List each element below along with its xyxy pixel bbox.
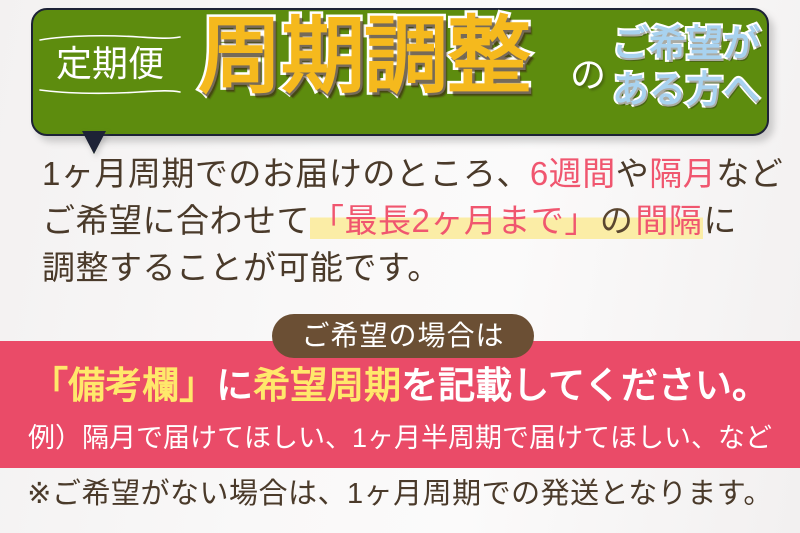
request-case-pill: ご希望の場合は — [272, 314, 534, 358]
description-line-1-part-c: や — [616, 155, 650, 192]
description-highlight-6weeks: 6週間 — [530, 155, 616, 192]
description-line-3: 調整することが可能です。 — [42, 244, 764, 291]
header-main-title: 周期調整 — [198, 14, 530, 98]
decorative-wave-line-bottom — [39, 86, 181, 95]
header-particle: の — [570, 57, 606, 93]
description-highlight-bimonthly: 隔月 — [649, 155, 716, 192]
description-highlight-max-two-months: 「最長2ヶ月まで」 — [310, 202, 599, 239]
request-headline-part-d: を記載してください。 — [401, 365, 769, 406]
description-line-1-part-e: など — [716, 155, 783, 192]
remarks-field-emphasis: 「備考欄」 — [31, 365, 216, 406]
description-line-2-part-a: ご希望に合わせて — [42, 202, 310, 239]
description-line-2: ご希望に合わせて「最長2ヶ月まで」の間隔に — [42, 197, 764, 244]
decorative-wave-line-top — [39, 34, 181, 43]
request-instructions-headline: 「備考欄」に希望周期を記載してください。 — [0, 367, 800, 404]
description-highlight-interval: 間隔 — [634, 202, 703, 239]
subscription-label-badge: 定期便 — [36, 26, 184, 102]
subscription-cycle-adjustment-banner: 定期便 周期調整 の ご希望が ある方へ 1ヶ月周期でのお届けのところ、6週間や… — [0, 0, 800, 533]
header-subtitle-line-2: ある方へ — [612, 68, 760, 112]
header-subtitle-group: ご希望が ある方へ — [612, 22, 764, 111]
default-shipping-note: ※ご希望がない場合は、1ヶ月周期での発送となります。 — [0, 480, 800, 509]
header-subtitle-line-1: ご希望が — [612, 22, 760, 66]
description-line-2-part-c: の — [599, 202, 635, 239]
request-case-pill-label: ご希望の場合は — [301, 322, 504, 350]
description-line-1: 1ヶ月周期でのお届けのところ、6週間や隔月など — [42, 150, 764, 197]
request-example-text: 例）隔月で届けてほしい、1ヶ月半周期で届けてほしい、など — [0, 425, 800, 452]
subscription-label-text: 定期便 — [56, 43, 164, 86]
request-headline-part-b: に — [216, 365, 253, 406]
description-line-2-part-e: に — [703, 202, 737, 239]
desired-cycle-emphasis: 希望周期 — [253, 365, 401, 406]
description-line-1-part-a: 1ヶ月周期でのお届けのところ、 — [42, 155, 530, 192]
description-paragraph: 1ヶ月周期でのお届けのところ、6週間や隔月など ご希望に合わせて「最長2ヶ月まで… — [42, 150, 764, 291]
